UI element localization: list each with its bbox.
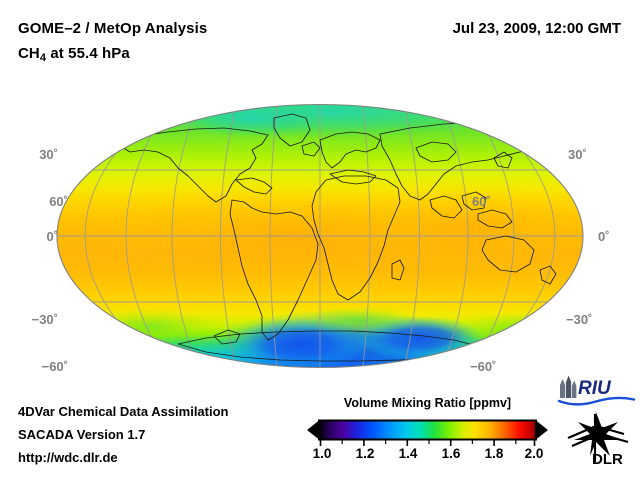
datestamp-label: Jul 23, 2009, 12:00 GMT [453,17,621,41]
lat-label-right-30s: −30˚ [566,313,592,326]
colorbar-tick-5: 1.8 [485,446,504,462]
colorbar-gradient [319,421,536,440]
figure-canvas: GOME–2 / MetOp Analysis CH4 at 55.4 hPa … [0,0,640,480]
lat-label-left-30n: 30˚ [12,148,58,161]
dlr-wordmark: DLR [592,451,623,468]
footer-line-url[interactable]: http://wdc.dlr.de [18,446,229,469]
instrument-title: GOME–2 / MetOp Analysis [18,17,207,41]
mollweide-map [0,88,640,388]
colorbar-tick-1: 1.0 [313,446,332,462]
lat-label-right-60s: −60˚ [470,360,496,373]
dlr-logo: DLR [562,410,636,468]
footer-block: 4DVar Chemical Data Assimilation SACADA … [18,400,229,469]
lat-label-left-60s: −60˚ [14,360,68,373]
species-level: at 55.4 hPa [46,45,130,62]
species-prefix: CH [18,45,40,62]
colorbar-extend-low-arrow [307,421,319,440]
colorbar-tick-2: 1.2 [356,446,375,462]
southern-green-wave-2 [300,306,420,334]
tropical-maximum-blob-east [350,184,590,272]
lat-label-left-60n: 60˚ [22,195,68,208]
colorbar-tick-6: 2.0 [525,446,544,462]
colorbar-tick-labels: 1.0 1.2 1.4 1.6 1.8 2.0 [305,446,550,466]
southern-green-wave-3 [458,312,582,344]
lat-label-right-0: 0˚ [598,230,610,243]
figure-title: GOME–2 / MetOp Analysis CH4 at 55.4 hPa [18,17,207,70]
colorbar: Volume Mixing Ratio [ppmv] [305,396,550,472]
lat-label-left-0: 0˚ [12,230,58,243]
lat-label-left-30s: −30˚ [4,313,58,326]
colorbar-scale [305,418,550,448]
map-panel: 60˚ 30˚ 0˚ −30˚ −60˚ 60˚ 30˚ 0˚ −30˚ −60… [0,88,640,388]
footer-line-version: SACADA Version 1.7 [18,423,229,446]
riu-wordmark: RIU [578,378,612,399]
colorbar-title: Volume Mixing Ratio [ppmv] [305,396,550,410]
colorbar-tick-4: 1.6 [442,446,461,462]
species-level-title: CH4 at 55.4 hPa [18,42,207,70]
lat-label-right-60n: 60˚ [472,195,491,208]
lat-label-right-30n: 30˚ [568,148,587,161]
riu-logo: RIU [556,374,636,408]
footer-line-method: 4DVar Chemical Data Assimilation [18,400,229,423]
southern-green-wave-1 [80,308,220,344]
colorbar-tick-3: 1.4 [399,446,418,462]
colorbar-extend-high-arrow [536,421,548,440]
riu-tower-icon [560,376,576,399]
